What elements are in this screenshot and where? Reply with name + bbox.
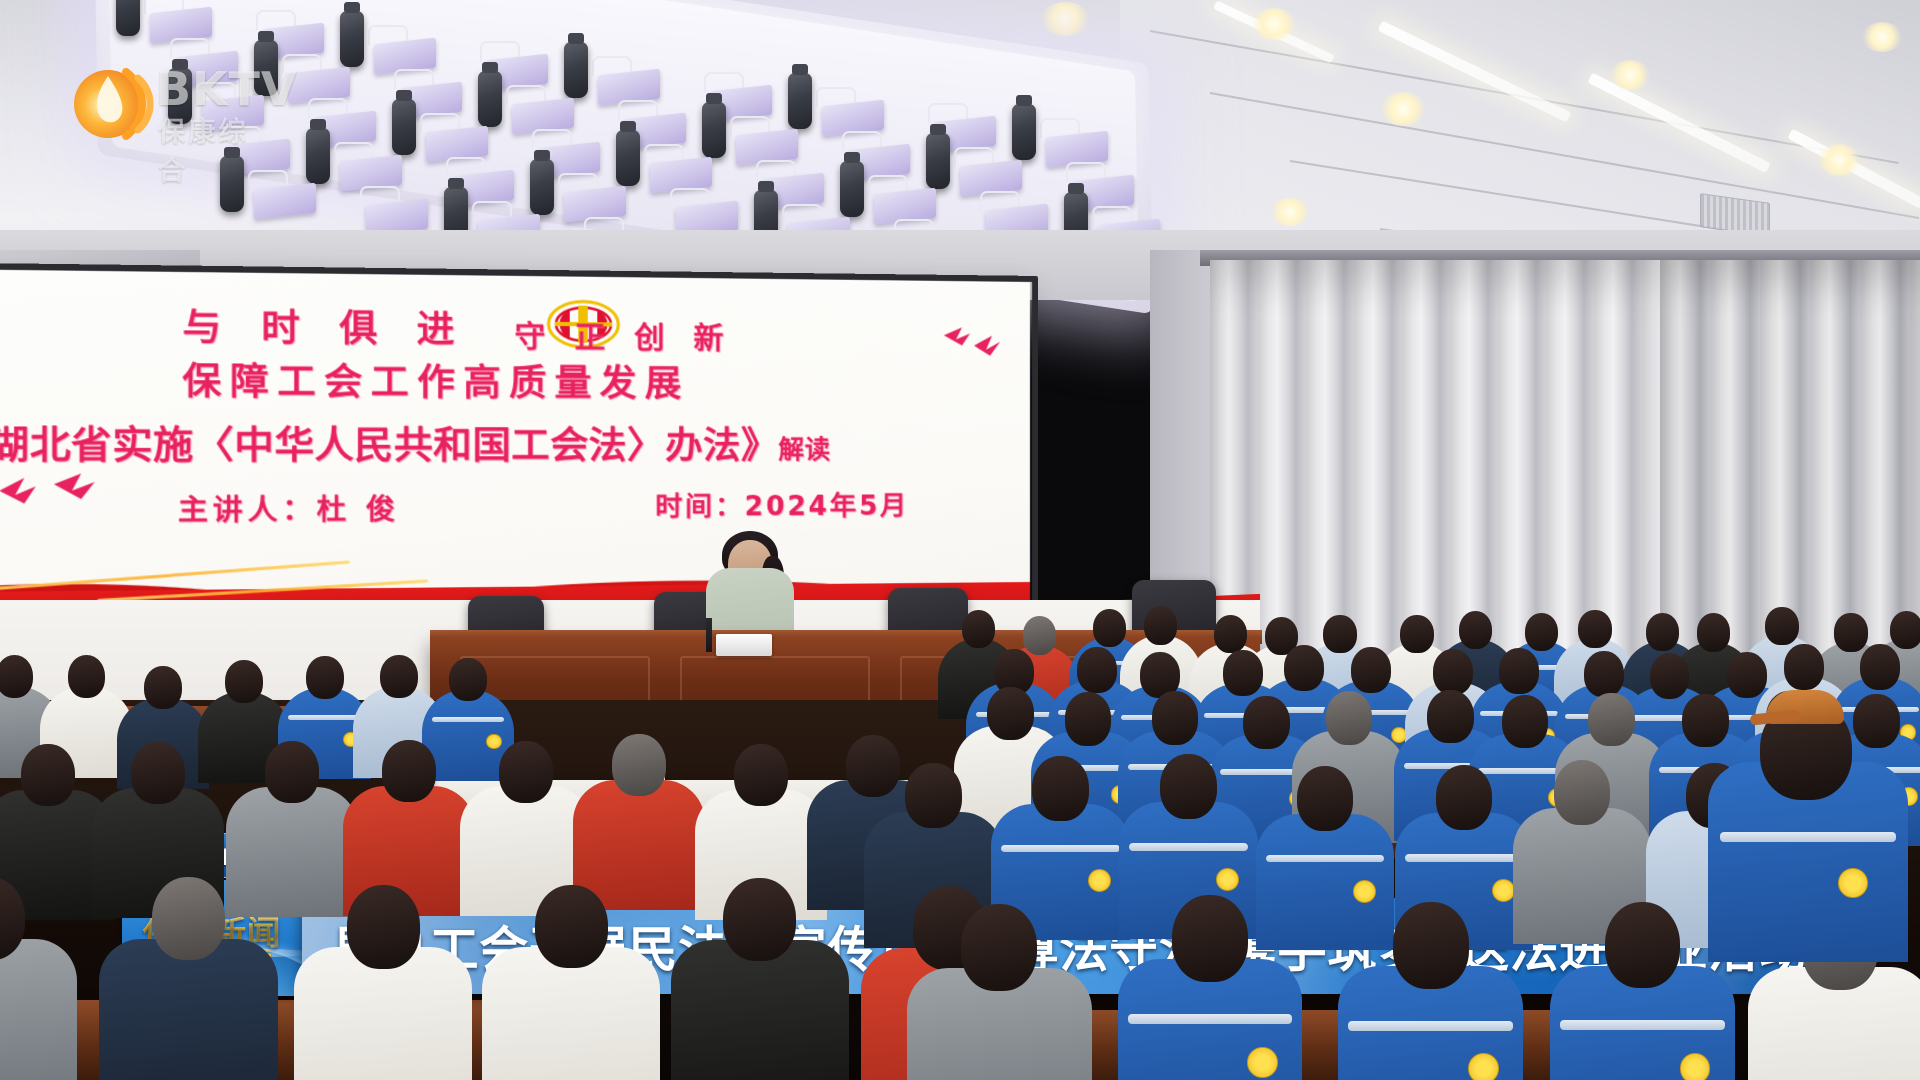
audience-head xyxy=(961,904,1037,991)
spotlight xyxy=(340,11,364,67)
audience-head xyxy=(1650,653,1690,699)
uniform-badge xyxy=(486,734,501,749)
audience-head xyxy=(1351,647,1391,693)
dove-icon xyxy=(940,319,1010,360)
audience-head xyxy=(1284,645,1324,691)
audience-head xyxy=(265,741,319,803)
uniform-reflective-stripe xyxy=(1001,845,1120,852)
audience-head xyxy=(499,741,553,803)
audience-head xyxy=(1323,615,1356,653)
audience-head xyxy=(987,687,1033,740)
downlight xyxy=(1252,8,1296,40)
audience-head xyxy=(1605,902,1681,989)
audience-head xyxy=(962,610,995,648)
screen-date-label: 时间：2024年5月 xyxy=(655,485,909,524)
uniform-reflective-stripe xyxy=(288,715,360,720)
spotlight xyxy=(116,0,140,36)
audience-head xyxy=(449,658,487,701)
uniform-reflective-stripe xyxy=(1720,832,1896,842)
audience-head xyxy=(1727,652,1767,698)
audience-head xyxy=(1077,647,1117,693)
dove-icon xyxy=(0,469,120,516)
screen-slogan-left: 与 时 俱 进 xyxy=(182,297,467,353)
audience-head xyxy=(306,656,344,699)
audience-torso xyxy=(1256,814,1395,951)
spotlight xyxy=(616,130,640,186)
audience-head xyxy=(1554,760,1611,825)
screen-subtitle: 保障工会工作高质量发展 xyxy=(182,352,689,408)
downlight xyxy=(1270,198,1310,226)
microphone xyxy=(706,618,712,652)
audience-head xyxy=(1427,690,1473,743)
audience-head xyxy=(1682,694,1728,747)
audience-head xyxy=(905,763,962,828)
channel-station-name: 保康综合 xyxy=(158,110,278,188)
audience-head xyxy=(380,655,418,698)
downlight xyxy=(1818,144,1860,176)
downlight xyxy=(1040,2,1090,36)
audience-head xyxy=(131,742,185,804)
audience-head xyxy=(1890,611,1920,649)
audience-head xyxy=(1499,648,1539,694)
uniform-badge xyxy=(1216,868,1239,891)
audience-head xyxy=(1784,644,1824,690)
audience-head xyxy=(1459,611,1492,649)
audience-torso xyxy=(226,787,358,917)
audience-head xyxy=(1765,607,1798,645)
audience-head xyxy=(1834,613,1867,651)
audience-head xyxy=(1243,696,1289,749)
audience-head xyxy=(1093,609,1126,647)
uniform-badge xyxy=(1353,880,1376,903)
spotlight xyxy=(564,42,588,98)
spotlight xyxy=(840,161,864,217)
audience-head xyxy=(1697,613,1730,651)
uniform-badge xyxy=(1247,1047,1278,1078)
audience-head xyxy=(1860,644,1900,690)
name-plate xyxy=(716,634,772,656)
audience-head xyxy=(612,734,666,796)
spotlight xyxy=(478,71,502,127)
uniform-reflective-stripe xyxy=(1129,843,1248,850)
audience-torso xyxy=(573,780,705,910)
uniform-badge xyxy=(1680,1053,1711,1080)
audience-head xyxy=(846,735,900,797)
screen-main-title-prefix: 《湖北省实施〈中华人民共和国工会法〉办法》 xyxy=(0,424,778,468)
uniform-badge xyxy=(1492,879,1515,902)
audience-head xyxy=(144,666,182,709)
projection-screen: 与 时 俱 进 守 正 创 新 保障工会工作高质量发展 《湖北省实施〈中华人民共… xyxy=(0,269,1030,630)
uniform-reflective-stripe xyxy=(1405,854,1524,861)
audience-head xyxy=(1436,765,1493,830)
audience-head xyxy=(1214,615,1247,653)
audience-head xyxy=(21,744,75,806)
audience-head xyxy=(1144,606,1177,644)
screen-speaker-label: 主讲人：杜 俊 xyxy=(178,487,400,529)
audience-head xyxy=(1588,693,1634,746)
broadcast-frame: 与 时 俱 进 守 正 创 新 保障工会工作高质量发展 《湖北省实施〈中华人民共… xyxy=(0,0,1920,1080)
audience-head xyxy=(1853,694,1899,747)
uniform-reflective-stripe xyxy=(1560,1020,1725,1030)
audience-head xyxy=(0,655,33,698)
spotlight xyxy=(702,102,726,158)
screen-main-title-suffix: 解读 xyxy=(778,435,830,465)
downlight xyxy=(1380,92,1426,126)
spotlight xyxy=(788,73,812,129)
spotlight xyxy=(306,128,330,184)
audience-torso xyxy=(0,939,77,1080)
audience-head xyxy=(535,885,608,969)
uniform-reflective-stripe xyxy=(1266,855,1385,862)
spotlight xyxy=(530,159,554,215)
uniform-reflective-stripe xyxy=(1128,1014,1293,1024)
audience-head xyxy=(1223,650,1263,696)
audience-head xyxy=(1400,615,1433,653)
audience-head xyxy=(1646,613,1679,651)
uniform-reflective-stripe xyxy=(432,717,504,722)
downlight xyxy=(1610,60,1650,90)
audience-head xyxy=(1433,649,1473,695)
audience-head xyxy=(347,885,420,969)
audience-head xyxy=(1584,651,1624,697)
audience-head xyxy=(225,660,263,703)
audience-head xyxy=(1032,756,1089,821)
uniform-badge xyxy=(1468,1053,1499,1080)
audience-head xyxy=(1502,695,1548,748)
audience-head xyxy=(1525,613,1558,651)
audience-head xyxy=(1326,691,1372,744)
audience-head xyxy=(1578,610,1611,648)
audience-head xyxy=(1172,895,1248,982)
screen-main-title: 《湖北省实施〈中华人民共和国工会法〉办法》解读 xyxy=(0,415,830,471)
audience-head xyxy=(1152,691,1198,744)
audience-head xyxy=(734,744,788,806)
audience-head xyxy=(68,655,106,698)
spotlight xyxy=(1012,104,1036,160)
spotlight xyxy=(392,99,416,155)
uniform-badge xyxy=(1838,868,1868,898)
orange-cap xyxy=(1766,690,1844,724)
uniform-reflective-stripe xyxy=(1348,1021,1513,1031)
audience-head xyxy=(1297,766,1354,831)
audience-head xyxy=(1160,754,1217,819)
audience-head xyxy=(1393,902,1469,989)
audience-head xyxy=(382,740,436,802)
spotlight xyxy=(926,133,950,189)
screen-slogan-right: 守 正 创 新 xyxy=(514,313,732,358)
flame-swirl-logo-icon xyxy=(68,56,160,146)
channel-bug: BKTV 保康综合 xyxy=(58,48,278,152)
audience-head xyxy=(723,878,796,962)
audience-head xyxy=(1023,616,1056,654)
downlight xyxy=(1862,22,1902,52)
channel-callsign: BKTV xyxy=(156,62,297,116)
audience-head xyxy=(152,877,225,961)
audience-head xyxy=(1065,692,1111,745)
